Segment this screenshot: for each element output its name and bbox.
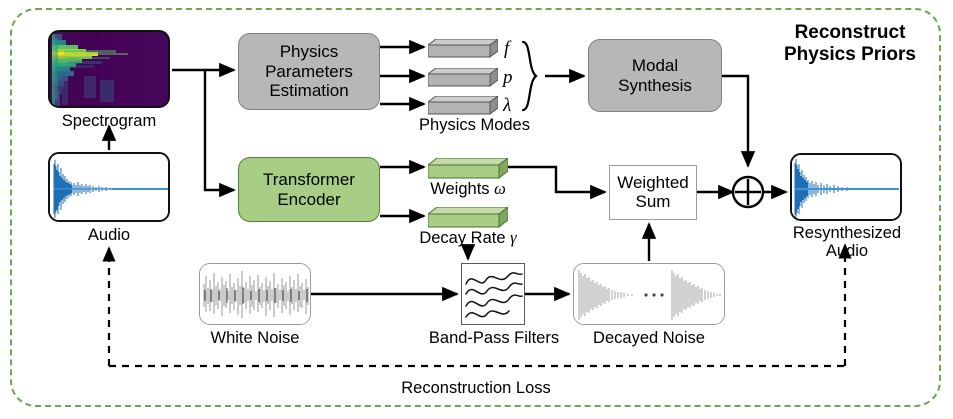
weights-label: Weights (430, 180, 489, 198)
symbol-f: f (504, 38, 509, 60)
transformer-encoder-line2: Encoder (277, 190, 340, 210)
weights-symbol: ω (494, 179, 506, 198)
physics-params-line1: Physics (280, 42, 339, 62)
white-noise-caption: White Noise (194, 329, 316, 347)
band-pass-filters-caption: Band-Pass Filters (408, 329, 580, 347)
modal-synthesis-line1: Modal (632, 56, 678, 76)
resynthesized-audio-caption-line1: Resynthesized (786, 224, 908, 242)
decayed-noise-caption: Decayed Noise (573, 329, 725, 347)
symbol-lambda: λ (503, 95, 511, 117)
modal-synthesis-line2: Synthesis (618, 76, 692, 96)
resynthesized-audio-thumbnail (790, 153, 902, 221)
physics-params-line2: Parameters (265, 62, 353, 82)
decay-rate-caption: Decay Rate γ (393, 229, 543, 247)
figure-title-line2: Physics Priors (760, 44, 940, 66)
decay-rate-symbol: γ (510, 228, 517, 247)
physics-mode-bar-p (428, 68, 498, 93)
band-pass-filters-block[interactable] (461, 263, 525, 325)
physics-mode-bar-f (428, 39, 498, 64)
physics-modes-caption: Physics Modes (402, 116, 547, 134)
figure-title-line1: Reconstruct (760, 22, 940, 44)
resynthesized-audio-caption-line2: Audio (786, 242, 908, 260)
weighted-sum-block[interactable]: Weighted Sum (609, 165, 697, 220)
spectrogram-caption: Spectrogram (38, 112, 180, 130)
decay-rate-label: Decay Rate (419, 229, 505, 247)
weighted-sum-line2: Sum (636, 193, 671, 212)
figure-title: Reconstruct Physics Priors (760, 22, 940, 67)
weighted-sum-line1: Weighted (617, 174, 689, 193)
decayed-noise-thumbnail (573, 263, 725, 325)
physics-parameters-estimation-block[interactable]: Physics Parameters Estimation (238, 33, 380, 110)
transformer-encoder-line1: Transformer (263, 170, 355, 190)
audio-caption: Audio (48, 226, 170, 244)
audio-thumbnail (48, 152, 170, 222)
spectrogram-thumbnail (48, 30, 170, 108)
diagram-canvas: Reconstruct Physics Priors (0, 0, 953, 419)
reconstruction-loss-label: Reconstruction Loss (371, 379, 581, 397)
white-noise-thumbnail (199, 263, 311, 325)
transformer-encoder-block[interactable]: Transformer Encoder (238, 157, 380, 222)
modal-synthesis-block[interactable]: Modal Synthesis (588, 39, 722, 112)
weights-caption: Weights ω (398, 180, 538, 198)
physics-params-line3: Estimation (269, 81, 348, 101)
symbol-p: p (503, 67, 513, 89)
resynthesized-audio-caption: Resynthesized Audio (786, 224, 908, 260)
